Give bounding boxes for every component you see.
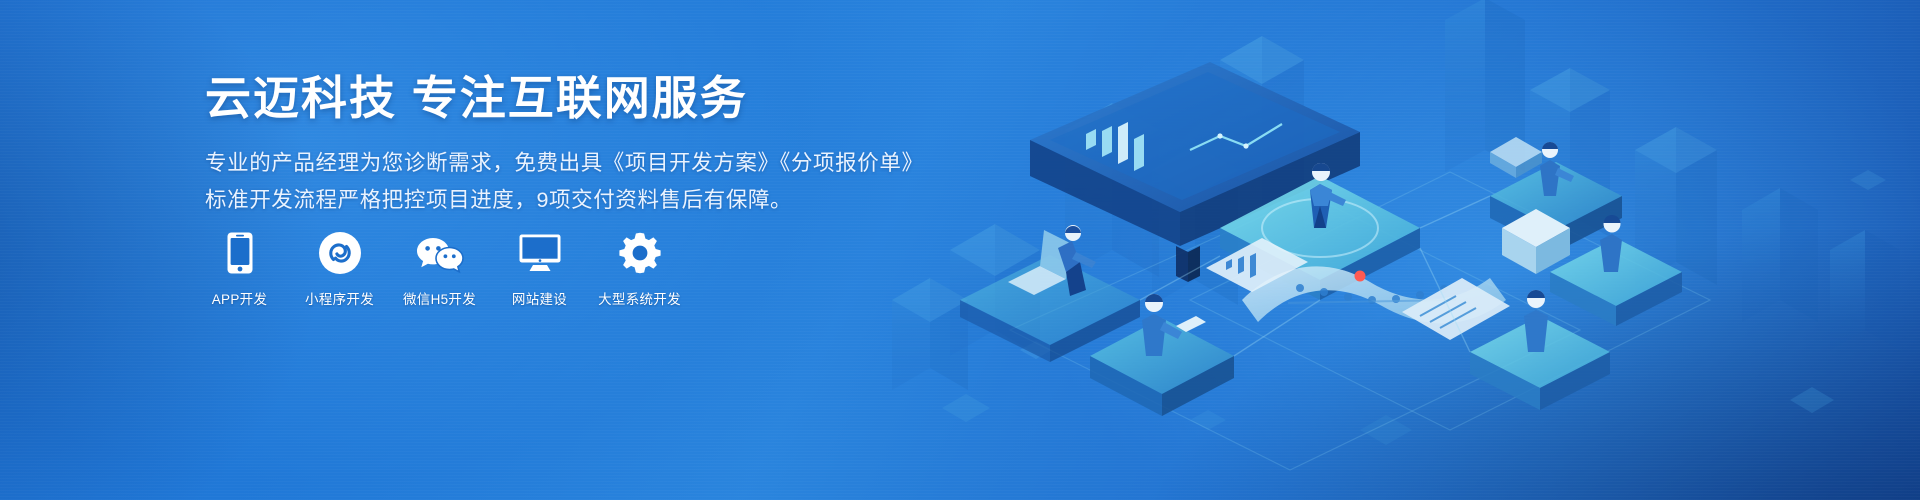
- service-item-website[interactable]: 网站建设: [505, 232, 574, 308]
- hero-copy: 云迈科技 专注互联网服务 专业的产品经理为您诊断需求，免费出具《项目开发方案》《…: [205, 70, 965, 219]
- service-label: 大型系统开发: [598, 288, 681, 308]
- mobile-phone-icon: [227, 232, 253, 274]
- service-label: 微信H5开发: [403, 288, 476, 308]
- person-lower-right: [1524, 290, 1548, 352]
- service-list: APP开发 小程序开发: [205, 232, 674, 308]
- illustration-isometric-data-platform: [890, 0, 1920, 500]
- service-label: 网站建设: [512, 288, 567, 308]
- service-item-app[interactable]: APP开发: [205, 232, 274, 308]
- service-item-large-system[interactable]: 大型系统开发: [605, 232, 674, 308]
- page-title: 云迈科技 专注互联网服务: [205, 70, 965, 126]
- service-item-mini-program[interactable]: 小程序开发: [305, 232, 374, 308]
- wechat-icon: [416, 232, 464, 274]
- subtitle-line-2: 标准开发流程严格把控项目进度，9项交付资料售后有保障。: [205, 182, 965, 219]
- service-label: APP开发: [212, 288, 268, 308]
- service-label: 小程序开发: [305, 288, 374, 308]
- service-item-wechat-h5[interactable]: 微信H5开发: [405, 232, 474, 308]
- mini-program-icon: [319, 232, 361, 274]
- hero-subtitle: 专业的产品经理为您诊断需求，免费出具《项目开发方案》《分项报价单》 标准开发流程…: [205, 145, 965, 219]
- gear-icon: [619, 232, 661, 274]
- hero-banner: 云迈科技 专注互联网服务 专业的产品经理为您诊断需求，免费出具《项目开发方案》《…: [0, 0, 1920, 500]
- monitor-icon: [519, 232, 561, 274]
- subtitle-line-1: 专业的产品经理为您诊断需求，免费出具《项目开发方案》《分项报价单》: [205, 145, 965, 182]
